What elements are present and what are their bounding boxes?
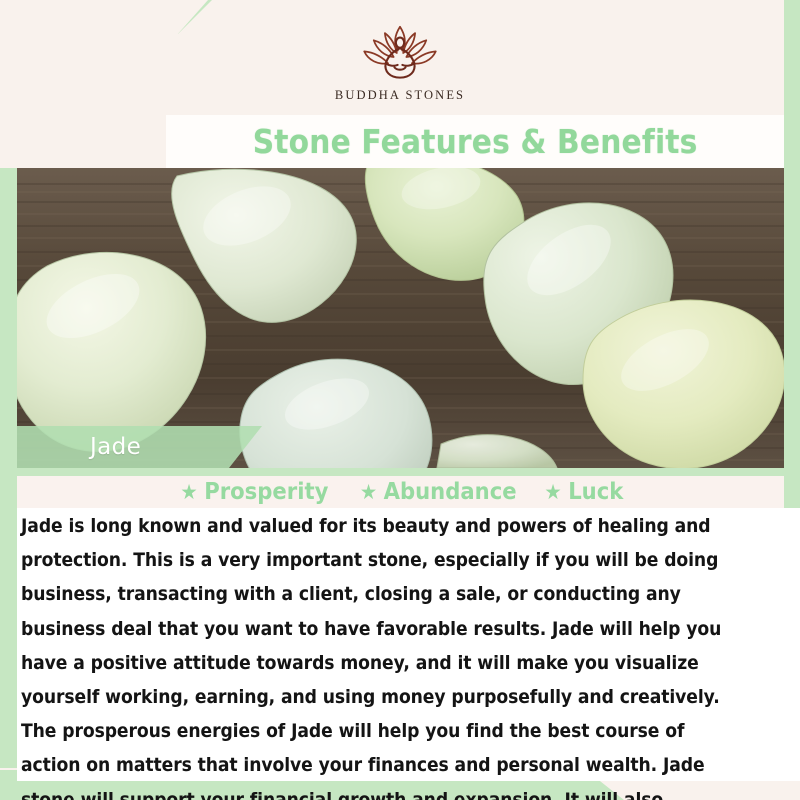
poster-canvas: BUDDHA STONES Stone Features & Benefits [0,0,800,800]
benefit-item-luck: ★ Luck [545,479,624,505]
benefits-row: ★ Prosperity ★ Abundance ★ Luck [17,476,784,508]
brand-logo: BUDDHA STONES [0,22,800,112]
benefit-item-prosperity: ★ Prosperity [180,479,328,505]
benefit-label: Luck [568,479,623,505]
photo-illustration [17,168,784,468]
jade-tumbled-stones-photo [17,168,784,468]
stone-name-label: Jade [17,434,141,460]
brand-wordmark: BUDDHA STONES [335,88,465,103]
description-text: Jade is long known and valued for its be… [21,510,743,800]
star-icon: ★ [360,482,377,503]
lotus-meditation-figure-icon [352,22,448,84]
star-icon: ★ [180,482,197,503]
benefit-item-abundance: ★ Abundance [360,479,517,505]
page-title: Stone Features & Benefits [253,122,698,161]
description-panel: Jade is long known and valued for its be… [17,508,800,781]
benefit-label: Prosperity [204,479,328,505]
stone-name-badge: Jade [17,426,262,468]
star-icon: ★ [545,482,562,503]
title-banner: Stone Features & Benefits [166,115,784,168]
benefit-label: Abundance [383,479,516,505]
